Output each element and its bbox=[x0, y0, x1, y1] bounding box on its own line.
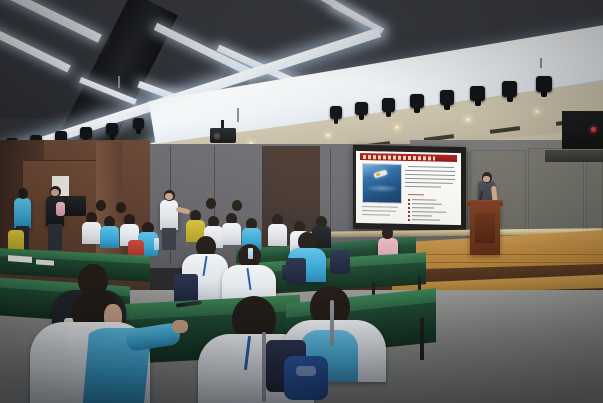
podium-front-panel bbox=[475, 213, 495, 243]
chair-back[interactable] bbox=[330, 250, 350, 274]
standing-staff2-face bbox=[51, 189, 59, 196]
water-bottle[interactable] bbox=[154, 238, 159, 250]
stage-spotlight bbox=[330, 106, 342, 119]
backpack-pocket bbox=[296, 366, 316, 376]
ceiling-hanging-rod bbox=[118, 76, 120, 88]
slide-title-text-glyphs bbox=[363, 155, 435, 161]
standing-staff-legs bbox=[162, 228, 176, 250]
stage-spotlight bbox=[502, 81, 517, 97]
ceiling-hanging-rod bbox=[237, 108, 239, 122]
ceiling-projector bbox=[210, 128, 236, 143]
recessed-downlight bbox=[466, 118, 470, 121]
submersible-highlight bbox=[376, 173, 381, 177]
audience-head bbox=[232, 200, 242, 211]
projector-lens bbox=[213, 132, 221, 140]
audience-torso bbox=[82, 222, 101, 244]
audience-torso bbox=[268, 224, 287, 246]
audience-torso bbox=[8, 230, 24, 250]
recessed-downlight bbox=[535, 110, 539, 113]
wall-speaker-right bbox=[562, 111, 603, 149]
backpack[interactable] bbox=[284, 356, 328, 400]
audience-torso bbox=[100, 226, 119, 248]
lecture-hall-photo bbox=[0, 0, 603, 403]
audience-hand bbox=[172, 320, 188, 333]
presenter-face bbox=[483, 176, 490, 182]
water-bottle[interactable] bbox=[248, 248, 253, 259]
table-leg bbox=[420, 318, 424, 360]
standing-student-torso bbox=[14, 198, 31, 228]
slide-photo-glow bbox=[365, 184, 399, 193]
lectern-podium bbox=[470, 203, 500, 255]
stage-spotlight bbox=[470, 86, 485, 101]
recessed-downlight bbox=[326, 134, 330, 137]
chair-back[interactable] bbox=[286, 258, 306, 284]
audience-torso bbox=[222, 223, 241, 245]
audience-person-head bbox=[382, 227, 393, 239]
audience-head bbox=[206, 198, 216, 209]
stage-spotlight bbox=[536, 76, 552, 92]
stage-spotlight bbox=[355, 102, 368, 115]
standing-staff-face bbox=[165, 193, 173, 200]
stage-spotlight bbox=[410, 94, 424, 108]
stage-spotlight bbox=[382, 98, 395, 112]
stage-spotlight bbox=[106, 123, 118, 135]
submersible-shape bbox=[374, 170, 388, 179]
chair-frame bbox=[262, 332, 266, 402]
projection-screen bbox=[356, 151, 461, 225]
slide-photo-underwater bbox=[362, 163, 402, 204]
stage-spotlight bbox=[80, 127, 92, 139]
wall-speaker-shelf bbox=[545, 150, 603, 162]
audience-head bbox=[96, 200, 106, 211]
recessed-downlight bbox=[395, 126, 399, 129]
ceiling-hanging-rod bbox=[540, 58, 542, 68]
stage-spotlight bbox=[440, 90, 454, 105]
audience-head bbox=[116, 202, 126, 213]
standing-staff-torso bbox=[160, 200, 178, 230]
standing-staff2-bag bbox=[56, 202, 65, 216]
slide-title-bar bbox=[360, 153, 457, 162]
stage-spotlight bbox=[133, 118, 144, 129]
standing-staff2-legs bbox=[48, 224, 62, 250]
standing-student-head bbox=[18, 188, 28, 199]
chair-frame bbox=[330, 300, 334, 346]
speaker-power-led bbox=[591, 127, 596, 132]
